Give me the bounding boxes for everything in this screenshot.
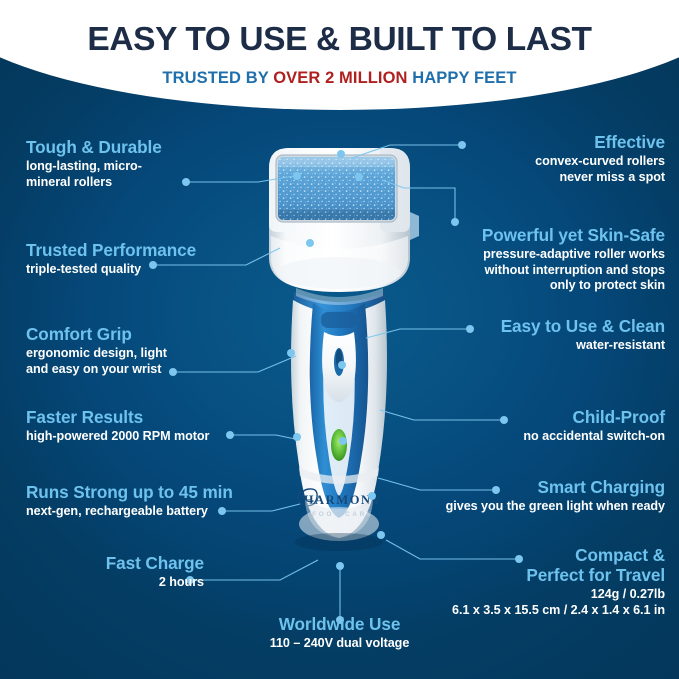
device-body: HARMONY FOOT CARE + — [291, 300, 387, 541]
micro-mineral-roller — [278, 157, 395, 220]
feature-desc: convex-curved rollers never miss a spot — [393, 154, 665, 185]
feature-title: Fast Charge — [16, 554, 204, 574]
charging-indicator-led — [331, 429, 347, 461]
features-center-column: Worldwide Use 110 – 240V dual voltage — [0, 615, 679, 652]
feature-title: Tough & Durable — [26, 138, 162, 158]
feature-title: Smart Charging — [393, 478, 665, 498]
feature-title: Faster Results — [26, 408, 209, 428]
feature-trusted-performance: Trusted Performance triple-tested qualit… — [26, 241, 196, 278]
feature-comfort-grip: Comfort Grip ergonomic design, light and… — [26, 325, 167, 377]
feature-title: Worldwide Use — [0, 615, 679, 635]
feature-desc: gives you the green light when ready — [393, 499, 665, 515]
subtitle-post: HAPPY FEET — [408, 69, 517, 87]
feature-desc: long-lasting, micro- mineral rollers — [26, 159, 162, 190]
page-subtitle: TRUSTED BY OVER 2 MILLION HAPPY FEET — [0, 57, 679, 88]
feature-title: Effective — [393, 133, 665, 153]
feature-desc: next-gen, rechargeable battery — [26, 504, 233, 520]
feature-compact-travel: Compact & Perfect for Travel 124g / 0.27… — [393, 546, 665, 618]
feature-desc: 110 – 240V dual voltage — [0, 636, 679, 652]
page-title: EASY TO USE & BUILT TO LAST — [0, 0, 679, 57]
svg-text:+: + — [377, 490, 381, 496]
feature-desc: triple-tested quality — [26, 262, 196, 278]
feature-faster-results: Faster Results high-powered 2000 RPM mot… — [26, 408, 209, 445]
feature-desc: pressure-adaptive roller works without i… — [393, 247, 665, 294]
feature-smart-charging: Smart Charging gives you the green light… — [393, 478, 665, 515]
feature-runs-strong: Runs Strong up to 45 min next-gen, recha… — [26, 483, 233, 520]
feature-desc: ergonomic design, light and easy on your… — [26, 346, 167, 377]
feature-title: Child-Proof — [393, 408, 665, 428]
header: EASY TO USE & BUILT TO LAST TRUSTED BY O… — [0, 0, 679, 88]
subtitle-pre: TRUSTED BY — [162, 69, 273, 87]
feature-effective: Effective convex-curved rollers never mi… — [393, 133, 665, 185]
power-button[interactable] — [321, 312, 357, 402]
feature-title: Comfort Grip — [26, 325, 167, 345]
feature-powerful-skin-safe: Powerful yet Skin-Safe pressure-adaptive… — [393, 226, 665, 294]
feature-title: Easy to Use & Clean — [393, 317, 665, 337]
feature-tough-durable: Tough & Durable long-lasting, micro- min… — [26, 138, 162, 190]
product-infographic: EASY TO USE & BUILT TO LAST TRUSTED BY O… — [0, 0, 679, 679]
feature-desc: 2 hours — [16, 575, 204, 591]
feature-desc: high-powered 2000 RPM motor — [26, 429, 209, 445]
feature-title: Powerful yet Skin-Safe — [393, 226, 665, 246]
feature-worldwide-use: Worldwide Use 110 – 240V dual voltage — [0, 615, 679, 652]
feature-title: Runs Strong up to 45 min — [26, 483, 233, 503]
feature-fast-charge: Fast Charge 2 hours — [16, 554, 204, 591]
feature-desc: 124g / 0.27lb 6.1 x 3.5 x 15.5 cm / 2.4 … — [393, 587, 665, 618]
feature-desc: water-resistant — [393, 338, 665, 354]
feature-desc: no accidental switch-on — [393, 429, 665, 445]
feature-child-proof: Child-Proof no accidental switch-on — [393, 408, 665, 445]
feature-title: Compact & Perfect for Travel — [393, 546, 665, 586]
feature-easy-use-clean: Easy to Use & Clean water-resistant — [393, 317, 665, 354]
subtitle-highlight: OVER 2 MILLION — [273, 69, 407, 87]
feature-title: Trusted Performance — [26, 241, 196, 261]
